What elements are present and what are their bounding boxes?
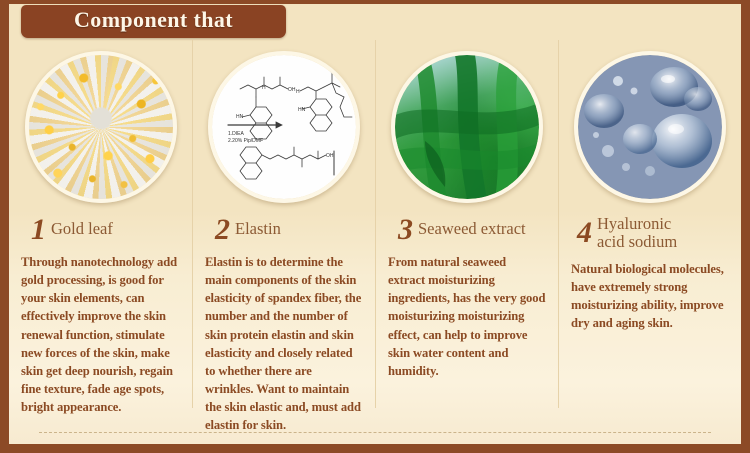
seaweed-image [391, 51, 543, 203]
image-ring-border [574, 51, 726, 203]
column-hyaluronic-acid-sodium: 4 Hyaluronic acid sodium Natural biologi… [558, 40, 741, 408]
image-ring-border: 1.DIEA 2.20% Pip/DMF OH HN H HN OH H [208, 51, 360, 203]
seaweed-photo [395, 55, 539, 199]
svg-text:H: H [296, 89, 300, 95]
water-droplets-icon [578, 55, 722, 199]
columns-row: 1 Gold leaf Through nanotechnology add g… [9, 40, 741, 408]
heading-title: Gold leaf [51, 215, 113, 238]
heading-number: 2 [215, 215, 230, 245]
heading-title: Elastin [235, 215, 281, 238]
page-frame: Component that 1 Gold leaf Through nanot… [0, 0, 750, 453]
heading-number: 1 [31, 215, 46, 245]
water-droplets-photo [578, 55, 722, 199]
footer-dashed-divider [39, 432, 711, 434]
chemical-structure-icon: 1.DIEA 2.20% Pip/DMF OH HN H HN OH H [212, 55, 356, 199]
diagram-label-1: 1.DIEA [228, 131, 245, 137]
heading-seaweed-extract: 3 Seaweed extract [386, 215, 548, 245]
gold-leaf-image [25, 51, 177, 203]
heading-title: Seaweed extract [418, 215, 526, 238]
image-ring-border [391, 51, 543, 203]
svg-text:HN: HN [298, 107, 306, 113]
body-text-gold-leaf: Through nanotechnology add gold processi… [19, 253, 182, 416]
seaweed-fronds-icon [395, 55, 539, 199]
heading-title: Hyaluronic acid sodium [597, 215, 677, 252]
svg-text:HN: HN [236, 114, 244, 120]
title-banner: Component that [21, 5, 286, 38]
water-droplets-image [574, 51, 726, 203]
header-band: Component that [9, 4, 741, 40]
heading-title-line1: Hyaluronic [597, 214, 671, 233]
heading-title-line2: acid sodium [597, 232, 677, 251]
body-text-seaweed-extract: From natural seaweed extract moisturizin… [386, 253, 548, 380]
heading-number: 3 [398, 215, 413, 245]
page-title: Component that [21, 7, 286, 33]
elastin-chemical-structure-diagram: 1.DIEA 2.20% Pip/DMF OH HN H HN OH H [212, 55, 356, 199]
svg-text:OH: OH [326, 153, 334, 159]
column-elastin: 1.DIEA 2.20% Pip/DMF OH HN H HN OH H [192, 40, 375, 408]
body-text-hyaluronic-acid-sodium: Natural biological molecules, have extre… [569, 260, 731, 333]
heading-elastin: 2 Elastin [203, 215, 365, 245]
content-canvas: Component that 1 Gold leaf Through nanot… [9, 4, 741, 444]
image-ring-border [25, 51, 177, 203]
body-text-elastin: Elastin is to determine the main compone… [203, 253, 365, 434]
gold-leaf-photo [29, 55, 173, 199]
svg-text:H: H [262, 85, 266, 91]
column-seaweed-extract: 3 Seaweed extract From natural seaweed e… [375, 40, 558, 408]
elastin-image: 1.DIEA 2.20% Pip/DMF OH HN H HN OH H [208, 51, 360, 203]
heading-number: 4 [577, 218, 592, 248]
heading-gold-leaf: 1 Gold leaf [19, 215, 182, 245]
svg-text:OH: OH [288, 87, 296, 93]
diagram-label-2: 2.20% Pip/DMF [228, 138, 263, 144]
column-gold-leaf: 1 Gold leaf Through nanotechnology add g… [9, 40, 192, 408]
heading-hyaluronic-acid-sodium: 4 Hyaluronic acid sodium [569, 215, 731, 252]
